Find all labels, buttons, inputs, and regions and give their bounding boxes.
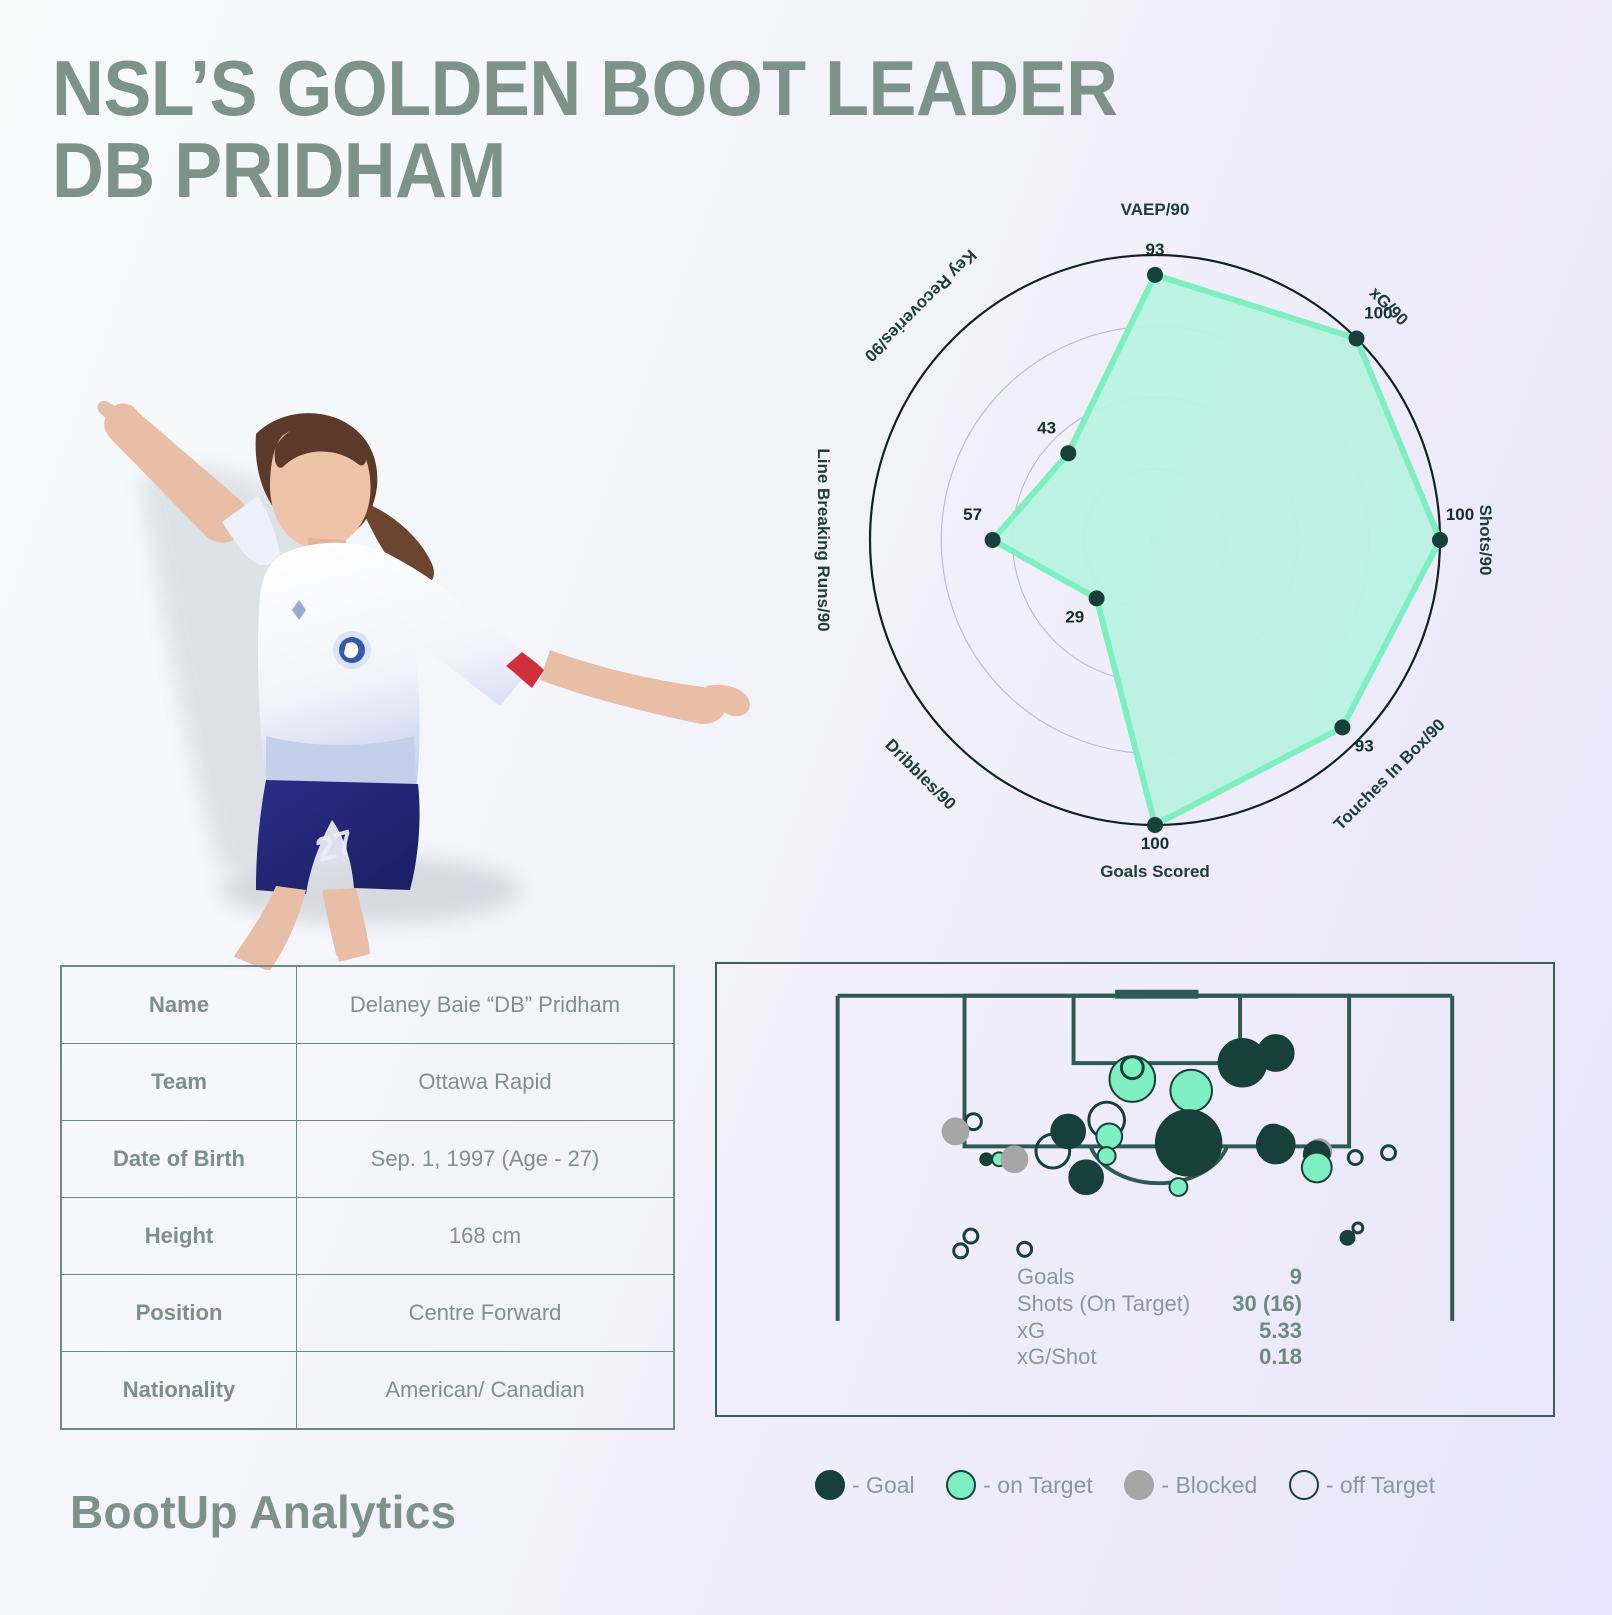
shot-dot-goal <box>1341 1231 1355 1245</box>
table-row: Height168 cm <box>61 1198 674 1275</box>
shot-dot-goal <box>1258 1035 1294 1071</box>
radar-point-3 <box>1334 719 1350 735</box>
info-key-name: Name <box>61 966 297 1044</box>
shot-dot-off-target <box>1353 1223 1363 1233</box>
radar-point-0 <box>1147 267 1163 283</box>
shot-stats-list: Goals9Shots (On Target)30 (16)xG5.33xG/S… <box>1017 1264 1302 1371</box>
stat-label-xg-shot: xG/Shot <box>1017 1344 1096 1371</box>
radar-point-4 <box>1147 817 1163 833</box>
radar-chart: 9310010093100295743 VAEP/90xG/90Shots/90… <box>760 140 1580 970</box>
blocked-dot-icon <box>1124 1470 1154 1500</box>
radar-axis-label-dribbles-90: Dribbles/90 <box>881 735 959 813</box>
legend-label: - off Target <box>1326 1472 1435 1499</box>
table-row: Date of BirthSep. 1, 1997 (Age - 27) <box>61 1121 674 1198</box>
shot-map-card: Goals9Shots (On Target)30 (16)xG5.33xG/S… <box>715 962 1555 1417</box>
shot-legend: - Goal- on Target- Blocked- off Target <box>815 1462 1435 1508</box>
shot-dot-on-target <box>1302 1153 1332 1183</box>
radar-value-label-4: 100 <box>1141 834 1169 853</box>
player-info-table: NameDelaney Baie “DB” PridhamTeamOttawa … <box>60 965 675 1430</box>
info-value-team: Ottawa Rapid <box>297 1044 675 1121</box>
shot-dot-goal <box>1069 1160 1103 1194</box>
shot-dot-on-target <box>1169 1178 1187 1196</box>
goal-mouth <box>1115 990 1198 999</box>
info-value-date-of-birth: Sep. 1, 1997 (Age - 27) <box>297 1121 675 1198</box>
info-value-position: Centre Forward <box>297 1275 675 1352</box>
shot-dot-goal <box>980 1153 992 1165</box>
stat-row: Shots (On Target)30 (16) <box>1017 1291 1302 1318</box>
shot-dot-blocked <box>943 1119 969 1145</box>
stat-label-shots-on-target: Shots (On Target) <box>1017 1291 1190 1318</box>
legend-item: - off Target <box>1289 1470 1435 1500</box>
off-target-dot-icon <box>1289 1470 1319 1500</box>
legend-label: - on Target <box>983 1472 1093 1499</box>
info-key-team: Team <box>61 1044 297 1121</box>
stat-value-xg-shot: 0.18 <box>1259 1344 1302 1371</box>
info-value-nationality: American/ Canadian <box>297 1352 675 1430</box>
stat-label-xg: xG <box>1017 1318 1045 1345</box>
radar-value-label-7: 43 <box>1037 418 1056 437</box>
radar-value-label-6: 57 <box>963 505 982 524</box>
stat-value-xg: 5.33 <box>1259 1318 1302 1345</box>
radar-value-label-3: 93 <box>1355 736 1374 755</box>
radar-axis-label-shots-90: Shots/90 <box>1476 505 1495 576</box>
shot-dot-off-target <box>1018 1242 1032 1256</box>
info-key-position: Position <box>61 1275 297 1352</box>
radar-point-1 <box>1349 331 1365 347</box>
stat-value-goals: 9 <box>1290 1264 1302 1291</box>
goal-dot-icon <box>815 1470 845 1500</box>
shot-dot-off-target <box>1382 1146 1396 1160</box>
radar-axis-label-key-recoveries-90: Key Recoveries/90 <box>861 246 981 366</box>
radar-point-6 <box>985 532 1001 548</box>
shot-dot-on-target <box>1096 1123 1122 1149</box>
radar-point-2 <box>1432 532 1448 548</box>
legend-label: - Blocked <box>1161 1472 1257 1499</box>
radar-value-label-5: 29 <box>1065 607 1084 626</box>
info-value-height: 168 cm <box>297 1198 675 1275</box>
stat-row: xG/Shot0.18 <box>1017 1344 1302 1371</box>
shot-dot-off-target <box>964 1229 978 1243</box>
shot-dot-off-target <box>1348 1151 1362 1165</box>
radar-value-label-2: 100 <box>1446 505 1474 524</box>
brand-footer: BootUp Analytics <box>70 1485 456 1539</box>
radar-point-7 <box>1060 445 1076 461</box>
table-row: NationalityAmerican/ Canadian <box>61 1352 674 1430</box>
info-key-height: Height <box>61 1198 297 1275</box>
legend-item: - on Target <box>946 1470 1093 1500</box>
shot-dots <box>943 1035 1396 1258</box>
shot-dot-goal <box>1257 1126 1295 1164</box>
radar-axis-label-vaep-90: VAEP/90 <box>1121 200 1190 219</box>
radar-axis-label-goals-scored: Goals Scored <box>1100 862 1210 881</box>
stat-value-shots-on-target: 30 (16) <box>1232 1291 1302 1318</box>
radar-point-5 <box>1089 590 1105 606</box>
info-value-name: Delaney Baie “DB” Pridham <box>297 966 675 1044</box>
shot-dot-on-target <box>1098 1147 1116 1165</box>
radar-axis-label-line-breaking-runs-90: Line Breaking Runs/90 <box>814 448 833 631</box>
info-key-nationality: Nationality <box>61 1352 297 1430</box>
legend-item: - Blocked <box>1124 1470 1257 1500</box>
table-row: PositionCentre Forward <box>61 1275 674 1352</box>
shot-dot-goal <box>1156 1110 1221 1175</box>
stat-row: xG5.33 <box>1017 1318 1302 1345</box>
on-target-dot-icon <box>946 1470 976 1500</box>
shot-dot-blocked <box>1002 1146 1028 1172</box>
shot-dot-on-target <box>1170 1070 1212 1112</box>
info-key-date-of-birth: Date of Birth <box>61 1121 297 1198</box>
stat-label-goals: Goals <box>1017 1264 1074 1291</box>
legend-item: - Goal <box>815 1470 915 1500</box>
stat-row: Goals9 <box>1017 1264 1302 1291</box>
legend-label: - Goal <box>852 1472 915 1499</box>
title-line-1: NSL’S GOLDEN BOOT LEADER <box>52 48 1193 130</box>
player-photo: 27 <box>70 350 770 970</box>
shot-dot-off-target <box>954 1244 968 1258</box>
table-row: TeamOttawa Rapid <box>61 1044 674 1121</box>
radar-value-label-0: 93 <box>1146 240 1165 259</box>
table-row: NameDelaney Baie “DB” Pridham <box>61 966 674 1044</box>
